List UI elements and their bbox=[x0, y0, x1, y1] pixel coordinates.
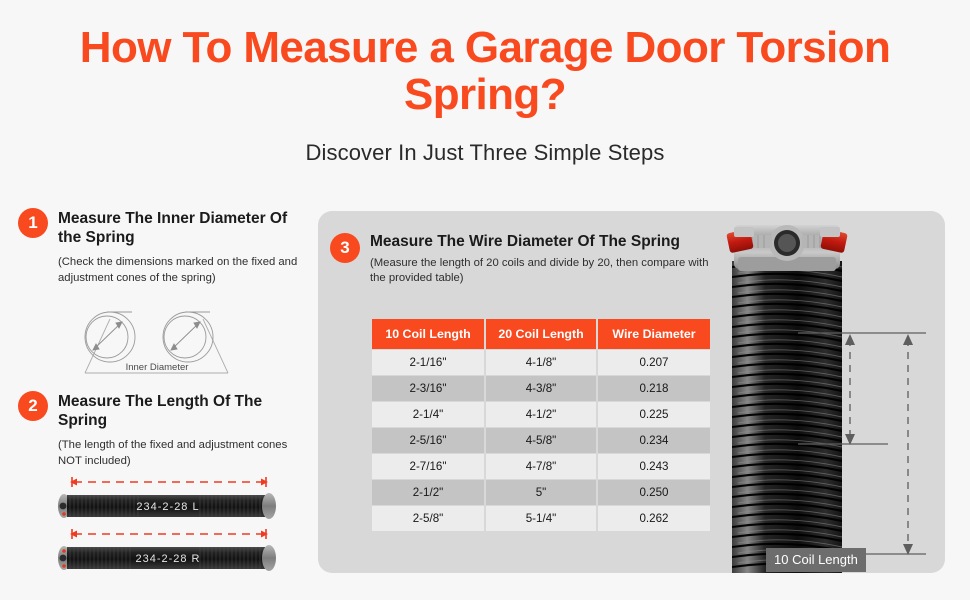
wire-diameter-table: 10 Coil Length 20 Coil Length Wire Diame… bbox=[370, 318, 712, 532]
step-1-badge: 1 bbox=[18, 208, 48, 238]
table-row: 2-1/4" 4-1/2" 0.225 bbox=[372, 402, 710, 427]
step-2-block: 2 Measure The Length Of The Spring (The … bbox=[18, 391, 308, 469]
cell-20-coil: 4-7/8" bbox=[486, 454, 596, 479]
column-header-10-coil: 10 Coil Length bbox=[372, 319, 484, 349]
inner-diameter-label: Inner Diameter bbox=[126, 362, 189, 373]
spring-top: 234-2-28 L bbox=[58, 477, 276, 519]
cell-wire-diameter: 0.218 bbox=[598, 376, 710, 401]
spring-length-diagram: 234-2-28 L bbox=[50, 468, 300, 573]
step-3-note: (Measure the length of 20 coils and divi… bbox=[370, 256, 715, 287]
winding-cone bbox=[726, 225, 848, 271]
step-1-heading: 1 Measure The Inner Diameter Of the Spri… bbox=[18, 208, 298, 247]
column-header-wire-diameter: Wire Diameter bbox=[598, 319, 710, 349]
spring-bottom: 234-2-28 R bbox=[58, 529, 276, 571]
step-3-title: Measure The Wire Diameter Of The Spring bbox=[370, 233, 715, 251]
step-1-title: Measure The Inner Diameter Of the Spring bbox=[58, 208, 298, 247]
cell-20-coil: 5" bbox=[486, 480, 596, 505]
callout-10-coil-length: 10 Coil Length bbox=[766, 548, 866, 572]
table-row: 2-3/16" 4-3/8" 0.218 bbox=[372, 376, 710, 401]
column-header-20-coil: 20 Coil Length bbox=[486, 319, 596, 349]
cell-10-coil: 2-3/16" bbox=[372, 376, 484, 401]
cell-20-coil: 4-3/8" bbox=[486, 376, 596, 401]
cell-20-coil: 4-5/8" bbox=[486, 428, 596, 453]
table-row: 2-1/16" 4-1/8" 0.207 bbox=[372, 350, 710, 375]
cell-10-coil: 2-1/2" bbox=[372, 480, 484, 505]
cell-20-coil: 4-1/2" bbox=[486, 402, 596, 427]
cell-10-coil: 2-1/4" bbox=[372, 402, 484, 427]
step-1-block: 1 Measure The Inner Diameter Of the Spri… bbox=[18, 208, 298, 286]
cell-wire-diameter: 0.262 bbox=[598, 506, 710, 531]
cell-10-coil: 2-1/16" bbox=[372, 350, 484, 375]
table-row: 2-1/2" 5" 0.250 bbox=[372, 480, 710, 505]
step-2-heading: 2 Measure The Length Of The Spring bbox=[18, 391, 308, 430]
step-3-heading: 3 Measure The Wire Diameter Of The Sprin… bbox=[330, 233, 730, 287]
cell-10-coil: 2-5/8" bbox=[372, 506, 484, 531]
cell-20-coil: 5-1/4" bbox=[486, 506, 596, 531]
table-row: 2-7/16" 4-7/8" 0.243 bbox=[372, 454, 710, 479]
step-2-badge: 2 bbox=[18, 391, 48, 421]
cell-wire-diameter: 0.243 bbox=[598, 454, 710, 479]
spring-top-label: 234-2-28 L bbox=[136, 501, 199, 513]
spring-bottom-label: 234-2-28 R bbox=[135, 553, 200, 565]
page-subtitle: Discover In Just Three Simple Steps bbox=[0, 140, 970, 166]
page-title: How To Measure a Garage Door Torsion Spr… bbox=[0, 0, 970, 118]
table-row: 2-5/8" 5-1/4" 0.262 bbox=[372, 506, 710, 531]
inner-diameter-diagram: Inner Diameter bbox=[62, 292, 252, 378]
table-header-row: 10 Coil Length 20 Coil Length Wire Diame… bbox=[372, 319, 710, 349]
step-2-title: Measure The Length Of The Spring bbox=[58, 391, 308, 430]
cell-wire-diameter: 0.250 bbox=[598, 480, 710, 505]
cell-10-coil: 2-5/16" bbox=[372, 428, 484, 453]
step-1-note: (Check the dimensions marked on the fixe… bbox=[58, 255, 298, 286]
cell-wire-diameter: 0.207 bbox=[598, 350, 710, 375]
step-3-panel: 3 Measure The Wire Diameter Of The Sprin… bbox=[318, 211, 945, 573]
table-row: 2-5/16" 4-5/8" 0.234 bbox=[372, 428, 710, 453]
cell-wire-diameter: 0.234 bbox=[598, 428, 710, 453]
cell-wire-diameter: 0.225 bbox=[598, 402, 710, 427]
torsion-spring-photo bbox=[708, 211, 945, 573]
cell-10-coil: 2-7/16" bbox=[372, 454, 484, 479]
cell-20-coil: 4-1/8" bbox=[486, 350, 596, 375]
step-3-badge: 3 bbox=[330, 233, 360, 263]
header: How To Measure a Garage Door Torsion Spr… bbox=[0, 0, 970, 166]
step-2-note: (The length of the fixed and adjustment … bbox=[58, 438, 308, 469]
